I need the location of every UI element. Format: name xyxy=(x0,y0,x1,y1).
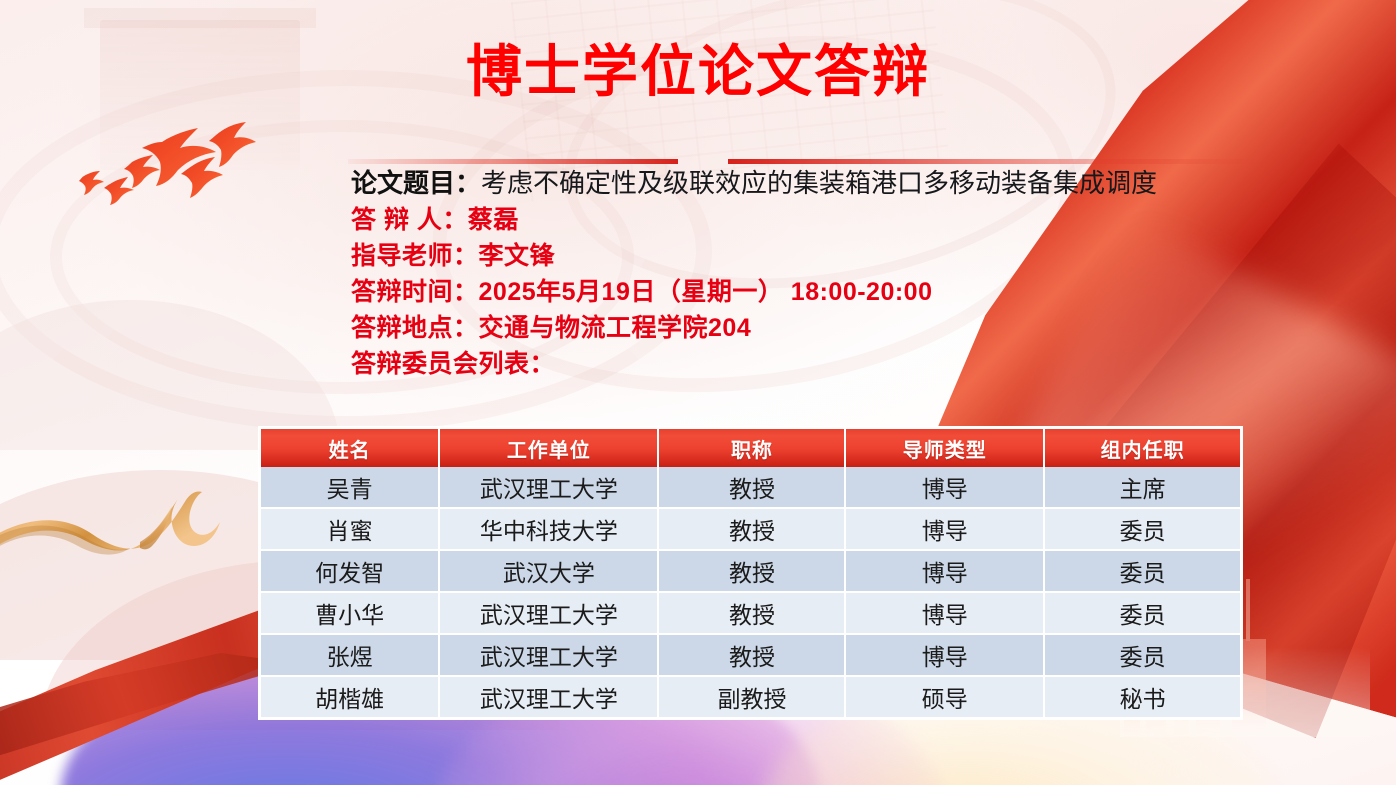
advisor-value: 李文锋 xyxy=(479,242,556,270)
cell-title: 教授 xyxy=(658,508,845,550)
location-label: 答辩地点： xyxy=(351,314,479,342)
gold-ribbon xyxy=(0,470,270,590)
defense-info-block: 论文题目：考虑不确定性及级联效应的集装箱港口多移动装备集成调度 答 辩 人：蔡磊… xyxy=(351,170,1291,388)
cell-name: 张煜 xyxy=(261,634,439,676)
cell-org: 武汉理工大学 xyxy=(439,467,658,508)
column-header-org: 工作单位 xyxy=(439,429,658,467)
column-header-role: 组内任职 xyxy=(1044,429,1240,467)
flying-doves-icon xyxy=(70,112,290,222)
advisor-label: 指导老师： xyxy=(351,242,479,270)
cell-role: 委员 xyxy=(1044,550,1240,592)
info-line-candidate: 答 辩 人：蔡磊 xyxy=(351,208,1291,233)
cell-title: 教授 xyxy=(658,592,845,634)
topic-value: 考虑不确定性及级联效应的集装箱港口多移动装备集成调度 xyxy=(481,169,1157,198)
table-header-row: 姓名 工作单位 职称 导师类型 组内任职 xyxy=(261,429,1240,467)
table-row: 肖蜜 华中科技大学 教授 博导 委员 xyxy=(261,508,1240,550)
cell-name: 肖蜜 xyxy=(261,508,439,550)
cell-role: 主席 xyxy=(1044,467,1240,508)
table-row: 何发智 武汉大学 教授 博导 委员 xyxy=(261,550,1240,592)
committee-label: 答辩委员会列表： xyxy=(351,350,555,378)
info-line-location: 答辩地点：交通与物流工程学院204 xyxy=(351,316,1291,341)
committee-table-container: 姓名 工作单位 职称 导师类型 组内任职 吴青 武汉理工大学 教授 博导 主席 … xyxy=(258,426,1243,720)
cell-type: 博导 xyxy=(845,634,1044,676)
cell-role: 委员 xyxy=(1044,508,1240,550)
column-header-name: 姓名 xyxy=(261,429,439,467)
cell-type: 博导 xyxy=(845,467,1044,508)
cell-org: 武汉理工大学 xyxy=(439,676,658,717)
cell-type: 博导 xyxy=(845,550,1044,592)
cell-title: 副教授 xyxy=(658,676,845,717)
cell-name: 曹小华 xyxy=(261,592,439,634)
cell-role: 委员 xyxy=(1044,592,1240,634)
candidate-value: 蔡磊 xyxy=(468,206,519,234)
committee-table: 姓名 工作单位 职称 导师类型 组内任职 吴青 武汉理工大学 教授 博导 主席 … xyxy=(261,429,1240,717)
table-row: 曹小华 武汉理工大学 教授 博导 委员 xyxy=(261,592,1240,634)
cell-org: 武汉理工大学 xyxy=(439,592,658,634)
presentation-slide: 博士学位论文答辩 论文题目：考虑不确定性及级联效应的集装箱港口多移动装备集成调度… xyxy=(0,0,1396,785)
cell-title: 教授 xyxy=(658,634,845,676)
table-row: 吴青 武汉理工大学 教授 博导 主席 xyxy=(261,467,1240,508)
cell-role: 秘书 xyxy=(1044,676,1240,717)
info-line-committee-heading: 答辩委员会列表： xyxy=(351,352,1291,377)
cell-name: 胡楷雄 xyxy=(261,676,439,717)
cell-role: 委员 xyxy=(1044,634,1240,676)
cell-org: 华中科技大学 xyxy=(439,508,658,550)
column-header-type: 导师类型 xyxy=(845,429,1044,467)
cell-title: 教授 xyxy=(658,550,845,592)
cell-org: 武汉理工大学 xyxy=(439,634,658,676)
info-line-time: 答辩时间：2025年5月19日（星期一） 18:00-20:00 xyxy=(351,280,1291,305)
cell-type: 博导 xyxy=(845,508,1044,550)
table-row: 张煜 武汉理工大学 教授 博导 委员 xyxy=(261,634,1240,676)
cell-title: 教授 xyxy=(658,467,845,508)
column-header-title: 职称 xyxy=(658,429,845,467)
info-line-advisor: 指导老师：李文锋 xyxy=(351,244,1291,269)
time-label: 答辩时间： xyxy=(351,278,479,306)
divider xyxy=(348,159,1254,164)
info-line-topic: 论文题目：考虑不确定性及级联效应的集装箱港口多移动装备集成调度 xyxy=(351,170,1291,197)
cell-type: 博导 xyxy=(845,592,1044,634)
location-value: 交通与物流工程学院204 xyxy=(479,314,752,342)
candidate-label: 答 辩 人： xyxy=(351,206,468,234)
cell-name: 吴青 xyxy=(261,467,439,508)
page-title: 博士学位论文答辩 xyxy=(0,42,1396,105)
cell-name: 何发智 xyxy=(261,550,439,592)
table-row: 胡楷雄 武汉理工大学 副教授 硕导 秘书 xyxy=(261,676,1240,717)
cell-type: 硕导 xyxy=(845,676,1044,717)
topic-label: 论文题目： xyxy=(351,168,481,198)
time-value: 2025年5月19日（星期一） 18:00-20:00 xyxy=(479,278,933,306)
cell-org: 武汉大学 xyxy=(439,550,658,592)
